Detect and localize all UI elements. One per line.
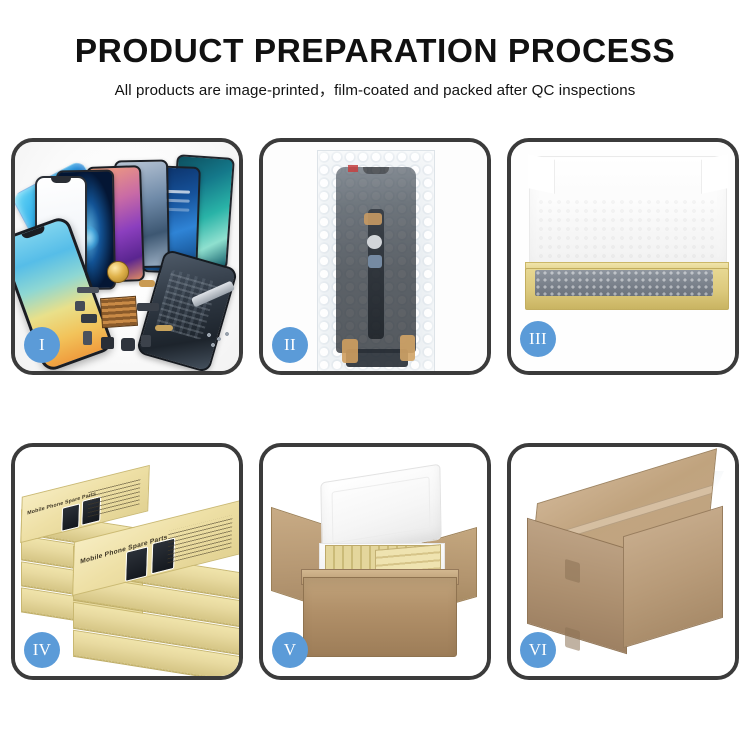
connector-tan [364, 213, 382, 225]
screws-group [205, 331, 231, 349]
gray-foam-insert [535, 270, 713, 296]
spare-part [81, 314, 97, 323]
connector-white [367, 235, 382, 249]
step-badge-1: I [24, 327, 60, 363]
box-artwork-thumbnail [61, 503, 80, 532]
spare-part [77, 287, 99, 293]
bubble-wrap-bag [317, 150, 435, 371]
red-label-tab [348, 165, 358, 172]
carton-body [303, 577, 457, 657]
chip-grid-component [100, 296, 138, 328]
step-badge-3: III [520, 321, 556, 357]
step-badge-6: VI [520, 632, 556, 668]
spare-part [121, 338, 135, 351]
process-step-grid: I II [11, 138, 739, 680]
header: PRODUCT PREPARATION PROCESS All products… [0, 34, 750, 100]
connector-tan [400, 335, 415, 361]
box-spec-lines [88, 478, 141, 517]
process-step-panel-1: I [11, 138, 243, 375]
spare-part [83, 331, 92, 345]
step-badge-2: II [272, 327, 308, 363]
speaker-component [107, 261, 129, 283]
process-step-panel-6: VI [507, 443, 739, 680]
spare-part [75, 301, 85, 311]
step-badge-4: IV [24, 632, 60, 668]
flex-cable [368, 209, 384, 339]
process-step-panel-4: Mobile Phone Spare Parts Mobile Phone Sp… [11, 443, 243, 680]
carton-tab [565, 627, 580, 652]
step-badge-5: V [272, 632, 308, 668]
spare-part [155, 325, 173, 331]
connector-tan [342, 339, 358, 363]
spare-part [101, 337, 114, 349]
spare-part [141, 335, 151, 347]
page-title: PRODUCT PREPARATION PROCESS [0, 34, 750, 69]
box-artwork-thumbnail [125, 546, 148, 582]
process-step-panel-2: II [259, 138, 491, 375]
page-subtitle: All products are image-printed，film-coat… [0, 78, 750, 100]
carton-tab [565, 559, 580, 584]
box-spec-lines [167, 515, 232, 563]
product-preparation-infographic: PRODUCT PREPARATION PROCESS All products… [0, 0, 750, 750]
connector-blue [368, 255, 382, 268]
spare-part [139, 280, 155, 287]
spare-part [137, 303, 159, 311]
process-step-panel-3: III [507, 138, 739, 375]
process-step-panel-5: V [259, 443, 491, 680]
